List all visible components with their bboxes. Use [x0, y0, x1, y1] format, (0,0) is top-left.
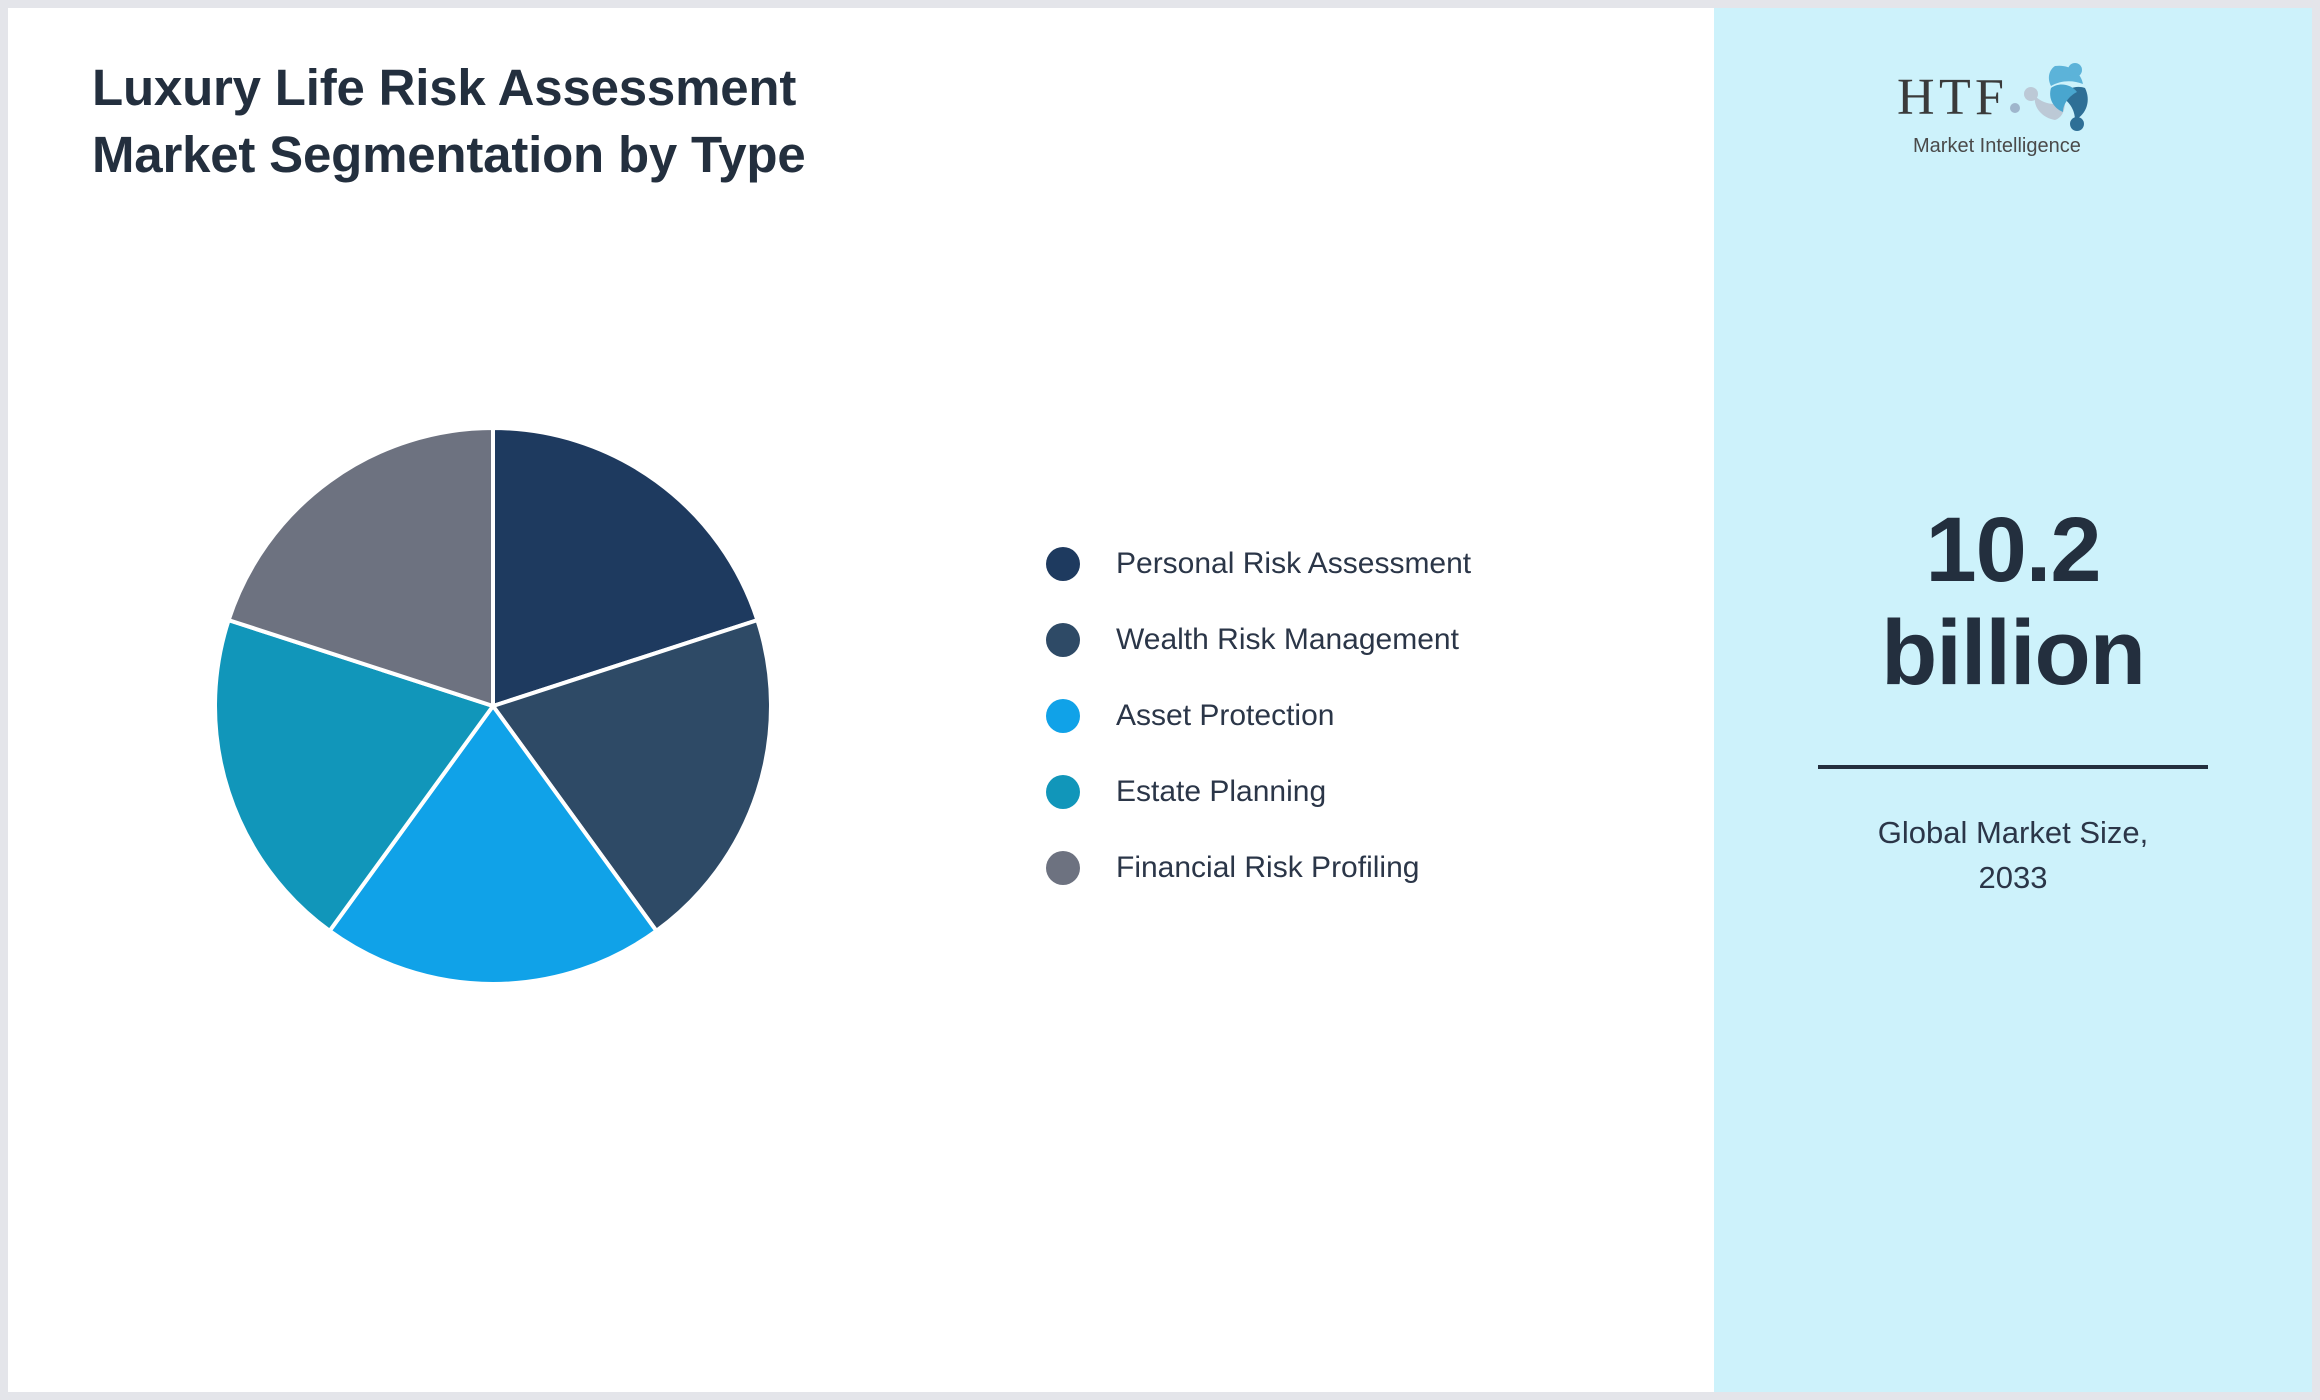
legend-item-wealth-risk-management[interactable]: Wealth Risk Management	[1046, 602, 1471, 678]
legend-item-asset-protection[interactable]: Asset Protection	[1046, 678, 1471, 754]
legend-item-label: Personal Risk Assessment	[1116, 549, 1471, 579]
infographic-card: Luxury Life Risk Assessment Market Segme…	[8, 8, 2312, 1392]
legend-item-personal-risk-assessment[interactable]: Personal Risk Assessment	[1046, 526, 1471, 602]
stat-value: 10.2 billion	[1881, 499, 2145, 705]
pie-slice-group	[215, 428, 771, 984]
legend-swatch-icon	[1046, 851, 1080, 885]
legend-item-label: Wealth Risk Management	[1116, 625, 1459, 655]
stat-caption: Global Market Size, 2033	[1803, 811, 2223, 901]
legend-item-label: Asset Protection	[1116, 701, 1334, 731]
stat-block: 10.2 billion Global Market Size, 2033	[1714, 8, 2312, 1392]
chart-legend: Personal Risk Assessment Wealth Risk Man…	[1046, 526, 1471, 906]
legend-item-estate-planning[interactable]: Estate Planning	[1046, 754, 1471, 830]
legend-swatch-icon	[1046, 775, 1080, 809]
stat-sidebar: H T F Market Intelligence 10.2 billion G…	[1714, 8, 2312, 1392]
pie-chart	[213, 426, 773, 986]
legend-item-financial-risk-profiling[interactable]: Financial Risk Profiling	[1046, 830, 1471, 906]
legend-item-label: Estate Planning	[1116, 777, 1326, 807]
legend-item-label: Financial Risk Profiling	[1116, 853, 1419, 883]
legend-swatch-icon	[1046, 699, 1080, 733]
legend-swatch-icon	[1046, 623, 1080, 657]
main-panel: Luxury Life Risk Assessment Market Segme…	[8, 8, 1714, 1392]
legend-swatch-icon	[1046, 547, 1080, 581]
stat-divider	[1818, 765, 2208, 769]
